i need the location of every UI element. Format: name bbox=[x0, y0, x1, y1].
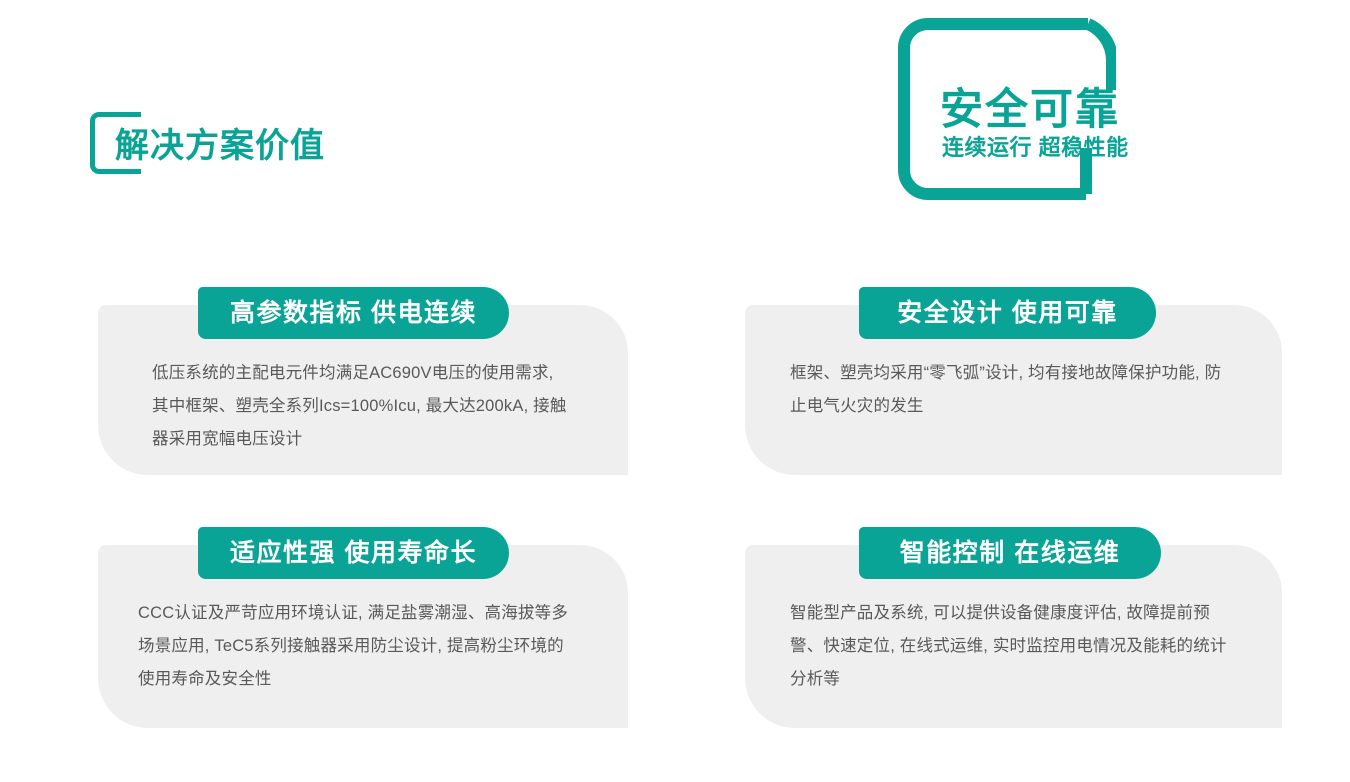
logo-block: 安全可靠 连续运行 超稳性能 bbox=[898, 18, 1116, 200]
logo-sub-text: 连续运行 超稳性能 bbox=[942, 130, 1132, 162]
page-title-block: 解决方案价值 bbox=[90, 112, 510, 190]
feature-card-badge-label: 适应性强 使用寿命长 bbox=[230, 541, 477, 566]
feature-card-body: 低压系统的主配电元件均满足AC690V电压的使用需求, 其中框架、塑壳全系列Ic… bbox=[152, 357, 572, 456]
feature-card-badge-label: 安全设计 使用可靠 bbox=[897, 301, 1117, 326]
feature-card-body: 框架、塑壳均采用“零飞弧”设计, 均有接地故障保护功能, 防止电气火灾的发生 bbox=[790, 357, 1230, 423]
feature-card-badge: 适应性强 使用寿命长 bbox=[198, 527, 509, 579]
feature-card-badge-label: 高参数指标 供电连续 bbox=[230, 301, 477, 326]
feature-card-badge: 安全设计 使用可靠 bbox=[859, 287, 1156, 339]
feature-card-body: 智能型产品及系统, 可以提供设备健康度评估, 故障提前预警、快速定位, 在线式运… bbox=[790, 597, 1230, 696]
feature-card-badge: 高参数指标 供电连续 bbox=[198, 287, 509, 339]
feature-card-body: CCC认证及严苛应用环境认证, 满足盐雾潮湿、高海拔等多场景应用, TeC5系列… bbox=[138, 597, 578, 696]
logo-main-text: 安全可靠 bbox=[940, 75, 1120, 137]
page-title: 解决方案价值 bbox=[115, 118, 325, 167]
feature-card-badge-label: 智能控制 在线运维 bbox=[900, 541, 1120, 566]
feature-card-badge: 智能控制 在线运维 bbox=[859, 527, 1161, 579]
